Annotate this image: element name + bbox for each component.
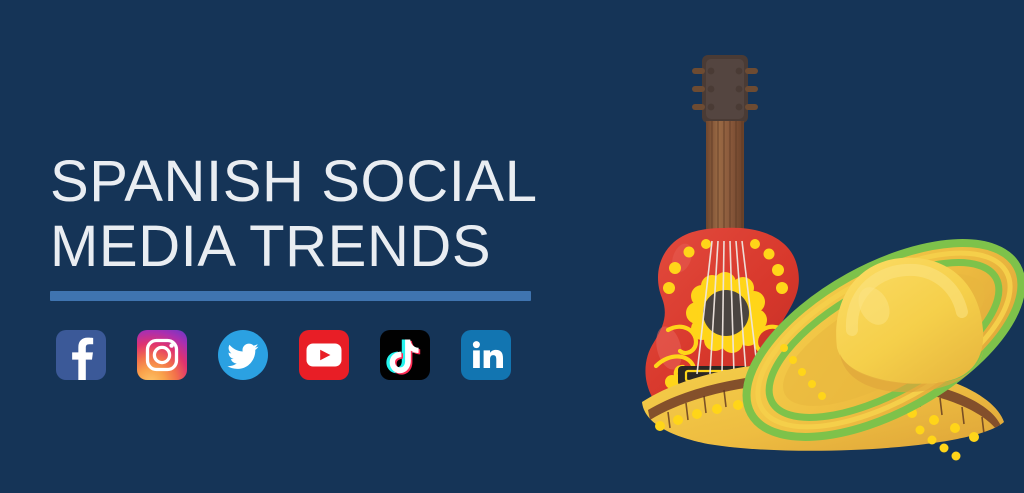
social-media-icon-row — [56, 330, 511, 380]
mexican-guitar-and-sombreros-illustration — [612, 30, 1024, 470]
linkedin-icon[interactable] — [461, 330, 511, 380]
guitar-neck — [706, 121, 744, 241]
youtube-icon[interactable] — [299, 330, 349, 380]
title-divider-rule — [50, 291, 531, 301]
twitter-bird-icon[interactable] — [218, 330, 268, 380]
tiktok-note-icon[interactable] — [380, 330, 430, 380]
guitar-headstock — [692, 55, 758, 123]
facebook-icon[interactable] — [56, 330, 106, 380]
text-block: SPANISH SOCIAL MEDIA TRENDS — [50, 150, 610, 280]
page-title: SPANISH SOCIAL MEDIA TRENDS — [50, 150, 610, 280]
instagram-icon[interactable] — [137, 330, 187, 380]
banner: SPANISH SOCIAL MEDIA TRENDS — [0, 0, 1024, 493]
